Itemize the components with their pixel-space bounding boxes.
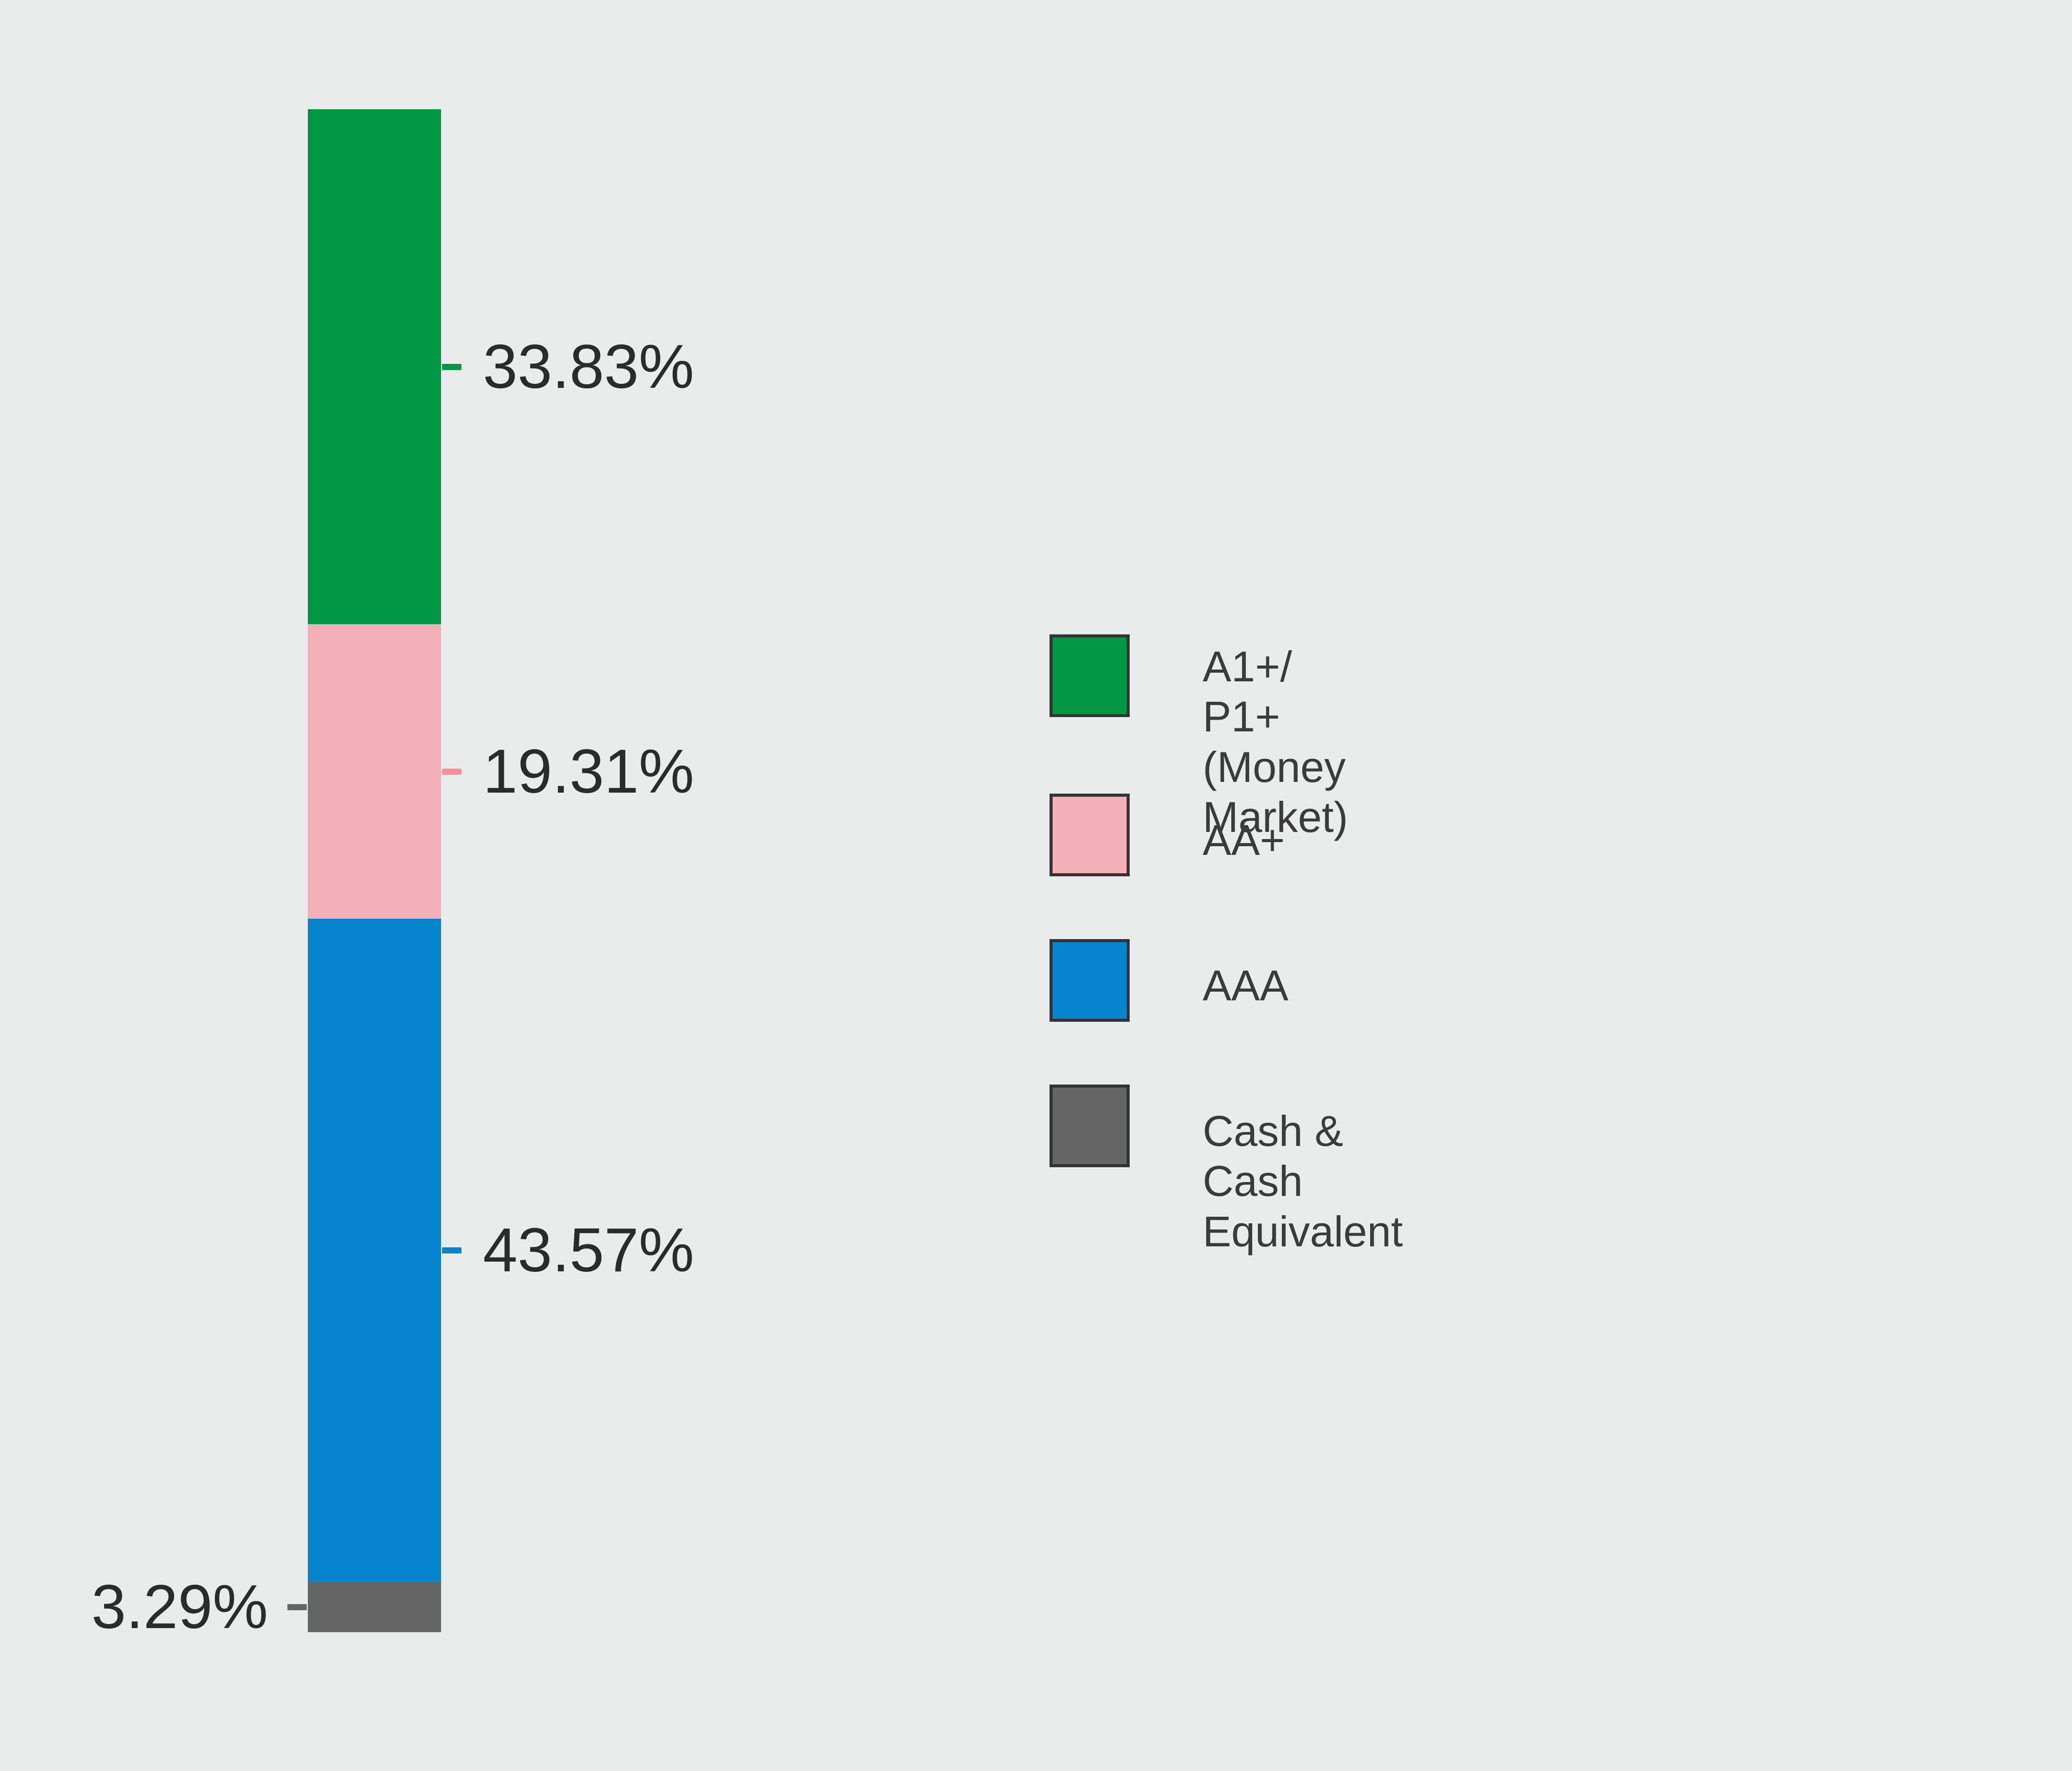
legend-label-a1p1: A1+/ P1+ (Money Market) — [1203, 642, 1348, 842]
value-label-aaa: 43.57% — [483, 1219, 694, 1281]
legend-label-cash: Cash & Cash Equivalent — [1203, 1106, 1403, 1257]
legend-label-aaa: AAA — [1203, 961, 1288, 1011]
tick-aaplus — [442, 769, 461, 775]
stacked-bar-chart: 33.83% 19.31% 43.57% 3.29% A1+/ P1+ (Mon… — [0, 0, 2072, 1771]
bar-segment-cash[interactable] — [308, 1582, 441, 1632]
bar-segment-aaa[interactable] — [308, 919, 441, 1582]
tick-a1p1 — [442, 364, 461, 370]
legend-swatch-aaa — [1050, 939, 1130, 1022]
bar-segment-aaplus[interactable] — [308, 624, 441, 918]
legend-swatch-a1p1 — [1050, 634, 1130, 717]
tick-cash — [287, 1604, 307, 1610]
tick-aaa — [442, 1247, 461, 1253]
value-label-a1p1: 33.83% — [483, 335, 694, 398]
value-label-aaplus: 19.31% — [483, 740, 694, 802]
legend-label-aaplus: AA+ — [1203, 815, 1285, 865]
bar-segment-a1p1[interactable] — [308, 109, 441, 624]
stacked-bar — [308, 109, 441, 1632]
value-label-cash: 3.29% — [91, 1576, 268, 1638]
legend-swatch-aaplus — [1050, 794, 1130, 876]
legend-swatch-cash — [1050, 1085, 1130, 1167]
